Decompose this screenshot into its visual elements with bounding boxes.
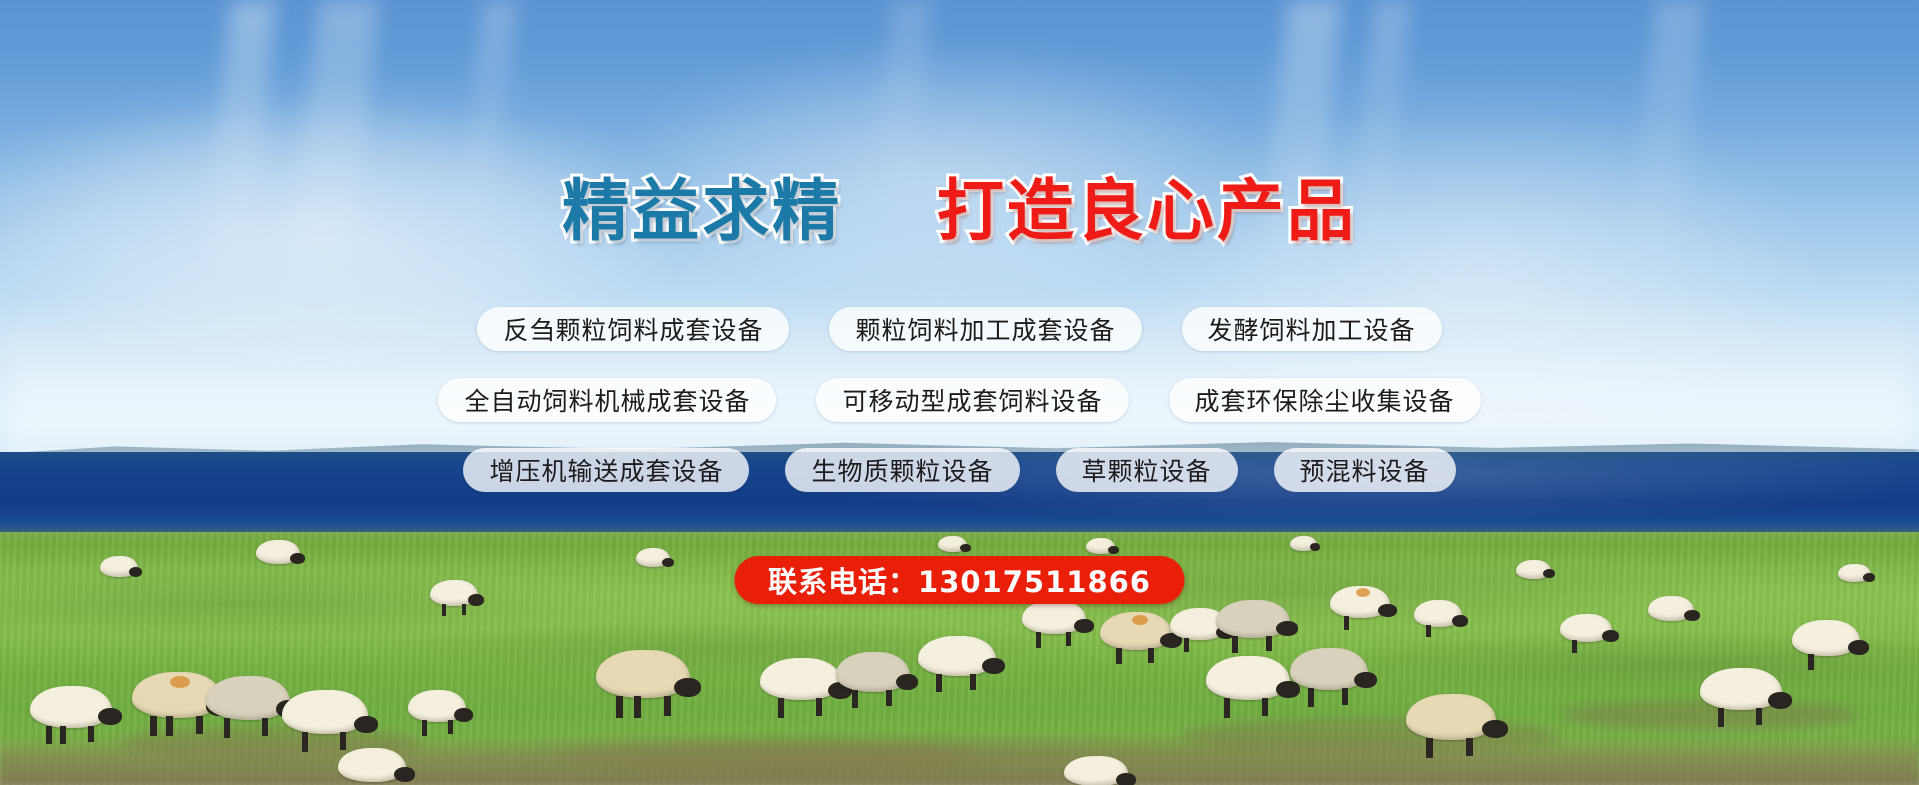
sheep (1086, 538, 1120, 557)
product-pill[interactable]: 颗粒饲料加工成套设备 (829, 307, 1141, 351)
headline-blue-text: 精益求精 (562, 178, 842, 245)
sheep (30, 686, 126, 734)
sheep (408, 690, 478, 728)
product-pill[interactable]: 生物质颗粒设备 (785, 448, 1019, 492)
sheep (636, 548, 676, 570)
sheep (596, 650, 706, 704)
sheep (1290, 536, 1322, 554)
product-pill[interactable]: 预混料设备 (1274, 448, 1456, 492)
sheep (100, 556, 144, 580)
sheep (836, 652, 922, 698)
sheep (1406, 694, 1510, 746)
sheep (282, 690, 382, 740)
sheep (1560, 614, 1622, 648)
sheep (1838, 564, 1878, 586)
sheep (918, 636, 1010, 682)
product-pill[interactable]: 草颗粒设备 (1056, 448, 1238, 492)
sheep (1516, 560, 1558, 583)
product-pill[interactable]: 全自动饲料机械成套设备 (438, 378, 776, 422)
product-pill[interactable]: 成套环保除尘收集设备 (1169, 378, 1481, 422)
foreground-dirt (0, 733, 1919, 785)
headline-red-text: 打造良心产品 (937, 178, 1357, 245)
contact-phone-badge[interactable]: 联系电话：13017511866 (734, 556, 1185, 604)
sheep (938, 536, 972, 555)
product-pill[interactable]: 可移动型成套饲料设备 (816, 378, 1128, 422)
hero-banner: 精益求精 打造良心产品 反刍颗粒饲料成套设备 颗粒饲料加工成套设备 发酵饲料加工… (0, 0, 1919, 785)
sheep (1064, 756, 1140, 785)
product-pill[interactable]: 发酵饲料加工设备 (1182, 307, 1442, 351)
sheep (1700, 668, 1796, 716)
sheep (430, 580, 488, 610)
sheep (1216, 600, 1304, 644)
sheep (1792, 620, 1872, 662)
product-pill-row-2: 全自动饲料机械成套设备 可移动型成套饲料设备 成套环保除尘收集设备 (0, 378, 1919, 422)
sheep (1022, 600, 1098, 640)
product-pill[interactable]: 增压机输送成套设备 (463, 448, 749, 492)
sheep (1330, 586, 1402, 624)
sheep (256, 540, 308, 568)
product-pill[interactable]: 反刍颗粒饲料成套设备 (477, 307, 789, 351)
sheep (1648, 596, 1704, 626)
product-pill-row-1: 反刍颗粒饲料成套设备 颗粒饲料加工成套设备 发酵饲料加工设备 (0, 307, 1919, 351)
sheep (338, 748, 418, 785)
sheep (1290, 648, 1382, 696)
sheep (1414, 600, 1472, 632)
product-pill-row-3: 增压机输送成套设备 生物质颗粒设备 草颗粒设备 预混料设备 (0, 448, 1919, 492)
headline: 精益求精 打造良心产品 (0, 178, 1919, 245)
